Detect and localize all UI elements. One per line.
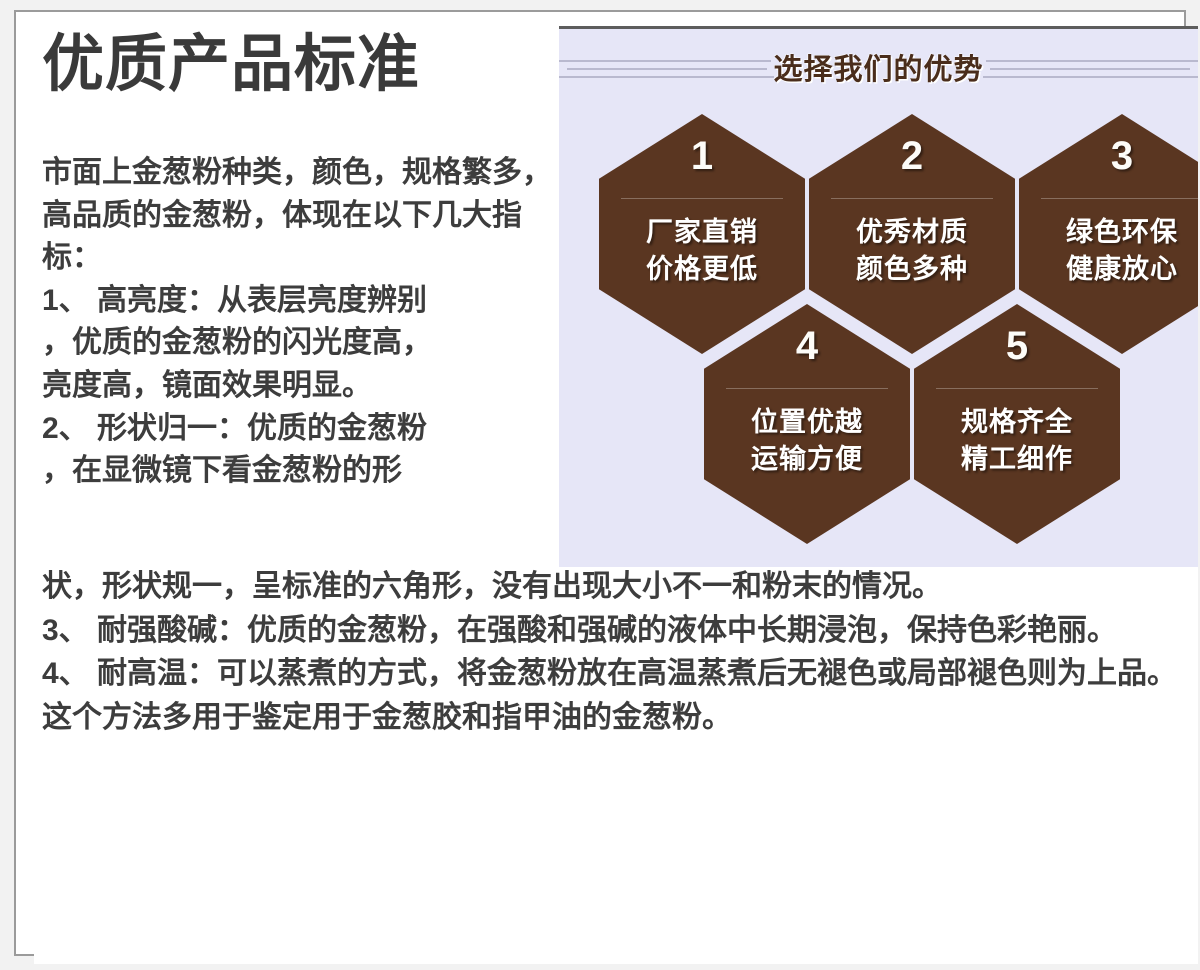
advantage-line1-4: 位置优越 — [704, 404, 910, 441]
panel-top-rule — [559, 26, 1198, 29]
promo-banner: 选择我们的优势 1 厂家直销 价格更低 2 优秀材质 颜色多种 — [0, 0, 1200, 970]
advantage-text-5: 规格齐全 精工细作 — [914, 404, 1120, 479]
advantage-divider-5 — [936, 388, 1098, 389]
advantages-panel: 选择我们的优势 1 厂家直销 价格更低 2 优秀材质 颜色多种 — [559, 26, 1198, 567]
advantage-number-1: 1 — [599, 136, 805, 176]
advantage-text-4: 位置优越 运输方便 — [704, 404, 910, 479]
advantage-line2-4: 运输方便 — [704, 441, 910, 478]
advantage-line1-2: 优秀材质 — [809, 214, 1015, 251]
advantage-hexagon-2: 2 优秀材质 颜色多种 — [809, 114, 1015, 354]
advantage-line1-1: 厂家直销 — [599, 214, 805, 251]
advantage-divider-4 — [726, 388, 888, 389]
advantage-line2-1: 价格更低 — [599, 251, 805, 288]
advantage-number-2: 2 — [809, 136, 1015, 176]
advantage-divider-3 — [1041, 198, 1198, 199]
advantages-heading: 选择我们的优势 — [559, 46, 1198, 88]
advantages-header: 选择我们的优势 — [559, 40, 1198, 90]
standard-line-3: 亮度高，镜面效果明显。 — [42, 365, 554, 408]
advantage-text-3: 绿色环保 健康放心 — [1019, 214, 1198, 289]
advantage-hexagon-5: 5 规格齐全 精工细作 — [914, 304, 1120, 544]
standard-line-5: ，在显微镜下看金葱粉的形 — [42, 450, 554, 493]
advantage-line1-5: 规格齐全 — [914, 404, 1120, 441]
advantage-number-3: 3 — [1019, 136, 1198, 176]
intro-text: 市面上金葱粉种类，颜色，规格繁多，高品质的金葱粉，体现在以下几大指标： — [42, 152, 554, 280]
standards-body-line-1: 状，形状规一，呈标准的六角形，没有出现大小不一和粉末的情况。 — [42, 565, 1190, 609]
advantage-line1-3: 绿色环保 — [1019, 214, 1198, 251]
intro-paragraph: 市面上金葱粉种类，颜色，规格繁多，高品质的金葱粉，体现在以下几大指标： 1、 高… — [42, 152, 554, 493]
page-title: 优质产品标准 — [42, 32, 420, 97]
advantage-hexagon-3: 3 绿色环保 健康放心 — [1019, 114, 1198, 354]
standards-body: 状，形状规一，呈标准的六角形，没有出现大小不一和粉末的情况。 3、 耐强酸碱：优… — [42, 565, 1190, 739]
advantage-line2-2: 颜色多种 — [809, 251, 1015, 288]
advantage-line2-5: 精工细作 — [914, 441, 1120, 478]
standard-line-2: ，优质的金葱粉的闪光度高， — [42, 322, 554, 365]
banner-inner: 选择我们的优势 1 厂家直销 价格更低 2 优秀材质 颜色多种 — [34, 26, 1198, 964]
advantage-hexagon-4: 4 位置优越 运输方便 — [704, 304, 910, 544]
advantage-divider-1 — [621, 198, 783, 199]
advantage-line2-3: 健康放心 — [1019, 251, 1198, 288]
standards-body-line-2: 3、 耐强酸碱：优质的金葱粉，在强酸和强碱的液体中长期浸泡，保持色彩艳丽。 — [42, 609, 1190, 653]
advantage-text-1: 厂家直销 价格更低 — [599, 214, 805, 289]
advantage-divider-2 — [831, 198, 993, 199]
standard-line-1: 1、 高亮度：从表层亮度辨别 — [42, 280, 554, 323]
standard-line-4: 2、 形状归一：优质的金葱粉 — [42, 408, 554, 451]
advantage-hexagon-1: 1 厂家直销 价格更低 — [599, 114, 805, 354]
advantage-text-2: 优秀材质 颜色多种 — [809, 214, 1015, 289]
standards-body-line-3: 4、 耐高温：可以蒸煮的方式，将金葱粉放在高温蒸煮后无褪色或局部褪色则为上品。 … — [42, 652, 1190, 739]
banner-frame: 选择我们的优势 1 厂家直销 价格更低 2 优秀材质 颜色多种 — [14, 10, 1186, 956]
